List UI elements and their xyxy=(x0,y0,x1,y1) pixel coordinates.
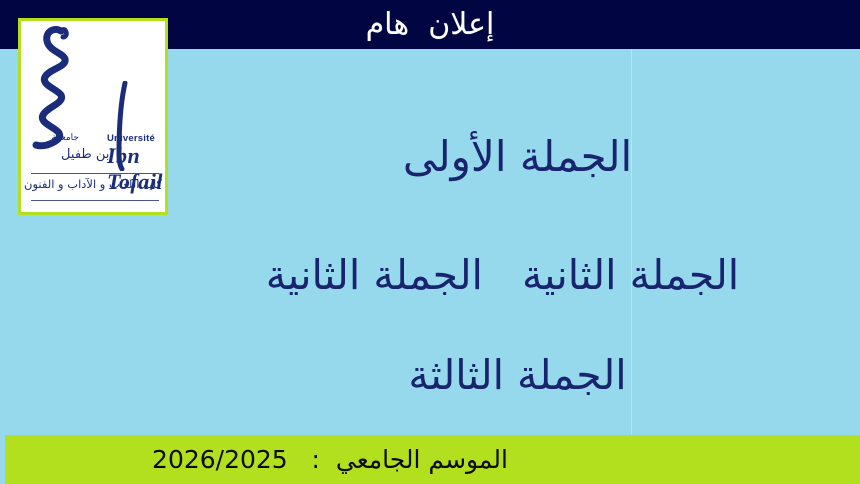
academic-year-label: الموسم الجامعي : 2026/2025 xyxy=(5,435,655,484)
logo-arabic-university-word: جامعــة xyxy=(51,133,79,143)
logo-faculty-name: كلية اللغات و الآداب و الفنون xyxy=(21,177,165,191)
university-logo-card: جامعــة ابن طفيل Université Ibn Tofail ك… xyxy=(18,18,168,215)
logo-divider-top xyxy=(31,173,159,174)
body-line-1: الجملة الأولى xyxy=(175,133,860,181)
logo-divider-bottom xyxy=(31,200,159,201)
body-line-3: الجملة الثالثة xyxy=(175,352,860,399)
logo-arabic-name: ابن طفيل xyxy=(61,147,113,162)
announcement-slide: إعلان هام جامعــة ابن طفيل Université Ib… xyxy=(0,0,860,484)
body-line-2: الجملة الثانية الجملة الثانية xyxy=(145,252,860,299)
slide-body: الجملة الأولى الجملة الثانية الجملة الثا… xyxy=(175,55,860,435)
logo-inner: جامعــة ابن طفيل Université Ibn Tofail ك… xyxy=(21,21,165,212)
